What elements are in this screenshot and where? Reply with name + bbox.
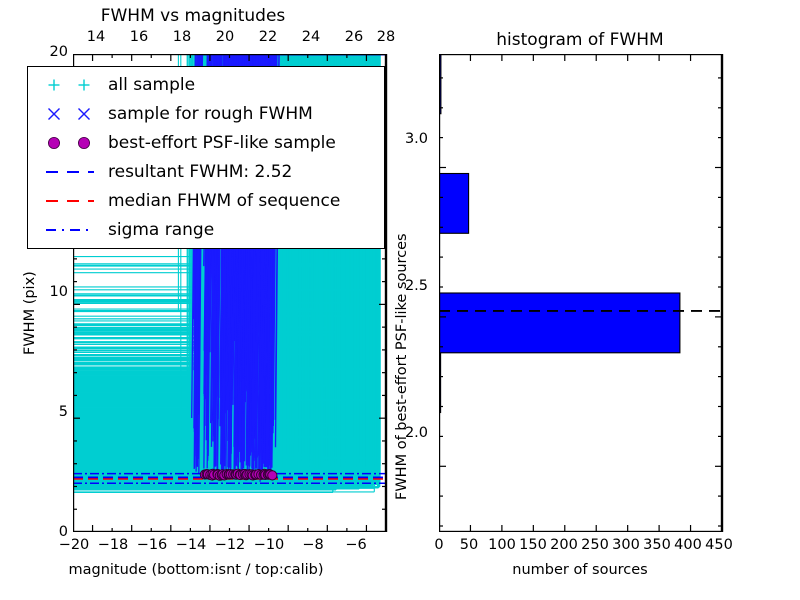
histogram-ylabel: FWHM of best-effort PSF-like sources: [394, 233, 410, 500]
dashed-line: [34, 187, 108, 215]
plus-marker: [34, 71, 108, 99]
legend-item-label: sample for rough FWHM: [108, 100, 313, 128]
top-tick-24: 24: [291, 29, 331, 45]
legend-item-2[interactable]: best-effort PSF-like sample: [34, 129, 336, 157]
legend-item-5[interactable]: sigma range: [34, 216, 214, 244]
top-tick-20: 20: [205, 29, 245, 45]
bottom-tick-m12: −12: [209, 537, 251, 553]
legend-item-0[interactable]: all sample: [34, 71, 195, 99]
y-tick-5: 5: [36, 404, 68, 420]
histogram-plot-area: [439, 54, 761, 532]
histogram-xlabel: number of sources: [420, 562, 740, 578]
y-tick-20: 20: [36, 44, 68, 60]
legend-item-label: best-effort PSF-like sample: [108, 129, 336, 157]
top-tick-18: 18: [162, 29, 202, 45]
hist-y-tick-2-0: 2.0: [396, 425, 428, 441]
hist-x-tick-0: 0: [426, 537, 452, 553]
top-tick-14: 14: [76, 29, 116, 45]
legend-item-4[interactable]: median FHWM of sequence: [34, 187, 340, 215]
top-tick-16: 16: [119, 29, 159, 45]
dashed-line: [34, 158, 108, 186]
histogram-panel: histogram of FWHM FWHM of best-effort PS…: [400, 0, 800, 600]
top-tick-22: 22: [248, 29, 288, 45]
scatter-ylabel: FWHM (pix): [22, 271, 38, 355]
hist-y-tick-2-5: 2.5: [396, 278, 428, 294]
hist-x-tick-50: 50: [452, 537, 486, 553]
bottom-tick-m6: −6: [335, 537, 377, 553]
y-tick-10: 10: [36, 284, 68, 300]
legend-item-label: all sample: [108, 71, 195, 99]
histogram-title: histogram of FWHM: [420, 30, 740, 50]
cross-marker: [34, 100, 108, 128]
scatter-xlabel: magnitude (bottom:isnt / top:calib): [0, 562, 392, 578]
legend[interactable]: all samplesample for rough FWHMbest-effo…: [27, 66, 385, 249]
figure-canvas: FWHM vs magnitudes 14 16 18 20 22 24 26 …: [0, 0, 800, 600]
legend-item-1[interactable]: sample for rough FWHM: [34, 100, 313, 128]
legend-item-label: sigma range: [108, 216, 214, 244]
histogram-bar: [439, 174, 469, 234]
dashdot-line: [34, 216, 108, 244]
bottom-tick-m14: −14: [170, 537, 212, 553]
scatter-points-psf-like: [200, 469, 277, 480]
legend-item-3[interactable]: resultant FWHM: 2.52: [34, 158, 292, 186]
legend-item-label: median FHWM of sequence: [108, 187, 340, 215]
legend-item-label: resultant FWHM: 2.52: [108, 158, 292, 186]
bottom-tick-m16: −16: [131, 537, 173, 553]
hist-x-tick-450: 450: [699, 537, 739, 553]
hist-y-tick-3-0: 3.0: [396, 131, 428, 147]
bottom-tick-m18: −18: [92, 537, 134, 553]
dot-marker: [34, 129, 108, 157]
bottom-tick-m20: −20: [53, 537, 95, 553]
bottom-tick-m10: −10: [248, 537, 290, 553]
histogram-bar: [439, 293, 680, 353]
bottom-tick-m8: −8: [292, 537, 334, 553]
scatter-title: FWHM vs magnitudes: [0, 6, 386, 26]
